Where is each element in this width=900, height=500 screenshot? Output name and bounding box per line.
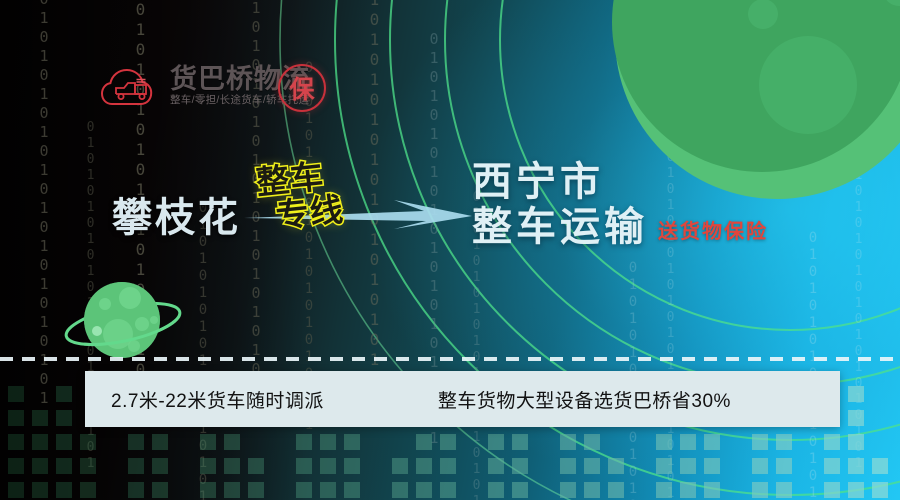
destination-city: 西宁市	[472, 160, 768, 205]
footer-right-text: 整车货物大型设备选货巴桥省30%	[438, 386, 731, 413]
footer-left-text: 2.7米-22米货车随时调派	[111, 386, 324, 413]
destination-service: 整车运输	[472, 205, 648, 250]
destination-service-row: 整车运输 送货物保险	[472, 205, 768, 250]
binary-column: 0101010101010101010101	[36, 0, 51, 408]
insurance-badge[interactable]: 保	[278, 64, 326, 112]
truck-cloud-icon	[100, 60, 162, 110]
banner-canvas: 0101010101010101010101 01010101010101010…	[0, 0, 900, 500]
footer-bar: 2.7米-22米货车随时调派 整车货物大型设备选货巴桥省30%	[85, 371, 840, 427]
insurance-note: 送货物保险	[658, 215, 768, 250]
route-type-badge: 整车 专线	[255, 157, 362, 235]
dashed-divider	[0, 357, 900, 361]
destination-block: 西宁市 整车运输 送货物保险	[472, 160, 768, 250]
origin-city: 攀枝花	[112, 185, 241, 243]
